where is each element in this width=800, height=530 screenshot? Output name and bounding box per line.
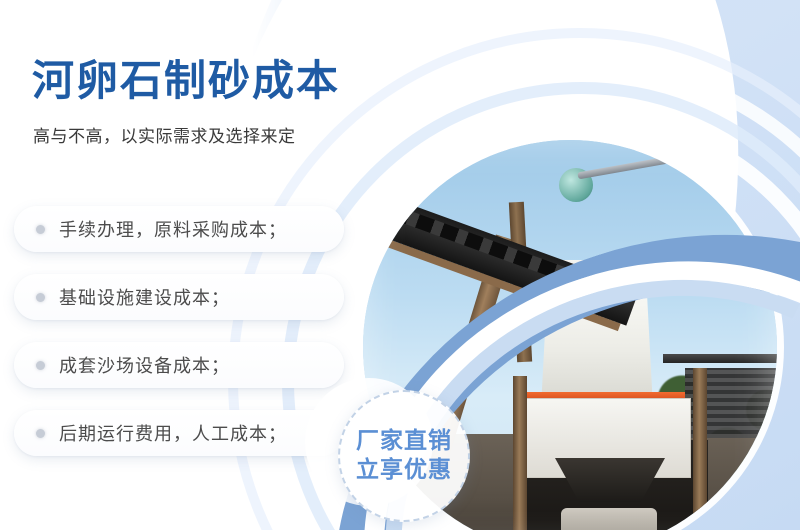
list-item[interactable]: 基础设施建设成本； <box>14 274 344 320</box>
promo-banner: 河卵石制砂成本 高与不高，以实际需求及选择来定 手续办理，原料采购成本； 基础设… <box>0 0 800 530</box>
promo-badge[interactable]: 厂家直销 立享优惠 <box>338 390 470 522</box>
bullet-dot-icon <box>36 429 45 438</box>
list-item-label: 基础设施建设成本； <box>59 284 230 310</box>
promo-badge-line-2: 立享优惠 <box>356 456 452 485</box>
list-item[interactable]: 成套沙场设备成本； <box>14 342 344 388</box>
list-item-label: 后期运行费用，人工成本； <box>59 420 287 446</box>
subheadline: 高与不高，以实际需求及选择来定 <box>33 122 296 147</box>
list-item[interactable]: 手续办理，原料采购成本； <box>14 206 344 252</box>
bullet-dot-icon <box>36 361 45 370</box>
headline: 河卵石制砂成本 <box>32 58 340 104</box>
promo-badge-line-1: 厂家直销 <box>356 427 452 456</box>
list-item[interactable]: 后期运行费用，人工成本； <box>14 410 344 456</box>
bullet-dot-icon <box>36 293 45 302</box>
feature-list: 手续办理，原料采购成本； 基础设施建设成本； 成套沙场设备成本； 后期运行费用，… <box>14 206 344 478</box>
list-item-label: 手续办理，原料采购成本； <box>59 216 287 242</box>
list-item-label: 成套沙场设备成本； <box>59 352 230 378</box>
bullet-dot-icon <box>36 225 45 234</box>
